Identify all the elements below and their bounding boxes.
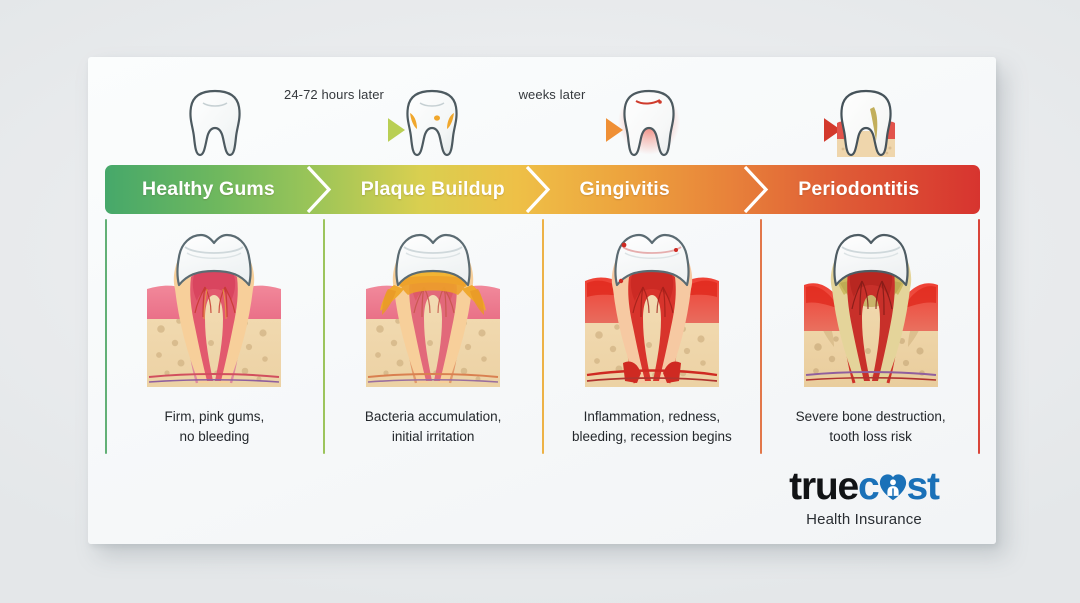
stage-columns: Firm, pink gums, no bleeding	[105, 217, 980, 457]
logo-text-true: true	[789, 467, 858, 506]
timeline-node-gingivitis	[617, 83, 681, 163]
logo-text-c: c	[858, 467, 879, 506]
timeline-arrow-3	[698, 113, 843, 147]
logo-tagline: Health Insurance	[759, 511, 969, 528]
timeline-arrow-1	[262, 113, 407, 147]
stage-column-gingivitis[interactable]: Inflammation, redness, bleeding, recessi…	[543, 217, 762, 457]
banner-stage-4[interactable]: Periodontitis	[761, 165, 980, 214]
stage-column-plaque-buildup[interactable]: Bacteria accumulation, initial irritatio…	[324, 217, 543, 457]
truecost-logo[interactable]: true c st Health Insurance	[759, 467, 969, 528]
stage-banner: Healthy Gums Plaque Buildup Gingivitis P…	[105, 165, 980, 214]
stage-caption-gingivitis: Inflammation, redness, bleeding, recessi…	[572, 407, 732, 446]
banner-stage-4-label: Periodontitis	[798, 178, 919, 201]
banner-stage-3-label: Gingivitis	[580, 178, 670, 201]
heart-with-person-icon	[878, 472, 908, 502]
banner-stage-1-label: Healthy Gums	[142, 178, 275, 201]
stage-column-periodontitis[interactable]: Severe bone destruction, tooth loss risk	[761, 217, 980, 457]
logo-text-st: st	[907, 467, 939, 506]
banner-stage-2-label: Plaque Buildup	[361, 178, 505, 201]
infographic-card: 24-72 hours later	[88, 57, 996, 544]
timeline-arrow-label-2: weeks later	[488, 87, 616, 102]
timeline-arrow-label-1: 24-72 hours later	[264, 87, 404, 102]
stage-caption-plaque-buildup: Bacteria accumulation, initial irritatio…	[365, 407, 502, 446]
banner-stage-1[interactable]: Healthy Gums	[105, 165, 324, 214]
stage-column-healthy-gums[interactable]: Firm, pink gums, no bleeding	[105, 217, 324, 457]
periodontitis-tooth-cross-section-icon	[796, 223, 946, 398]
timeline-arrow-2	[480, 113, 625, 147]
stage-caption-periodontitis: Severe bone destruction, tooth loss risk	[796, 407, 946, 446]
progression-timeline: 24-72 hours later	[88, 83, 996, 169]
gingivitis-tooth-cross-section-icon	[577, 223, 727, 398]
banner-stage-2[interactable]: Plaque Buildup	[324, 165, 543, 214]
banner-stage-3[interactable]: Gingivitis	[543, 165, 762, 214]
timeline-node-periodontitis	[834, 83, 898, 163]
logo-wordmark: true c st	[759, 467, 969, 506]
stage-caption-healthy-gums: Firm, pink gums, no bleeding	[164, 407, 264, 446]
plaque-tooth-cross-section-icon	[358, 223, 508, 398]
timeline-node-healthy	[183, 83, 247, 163]
timeline-node-plaque	[400, 83, 464, 163]
healthy-tooth-cross-section-icon	[139, 223, 289, 398]
